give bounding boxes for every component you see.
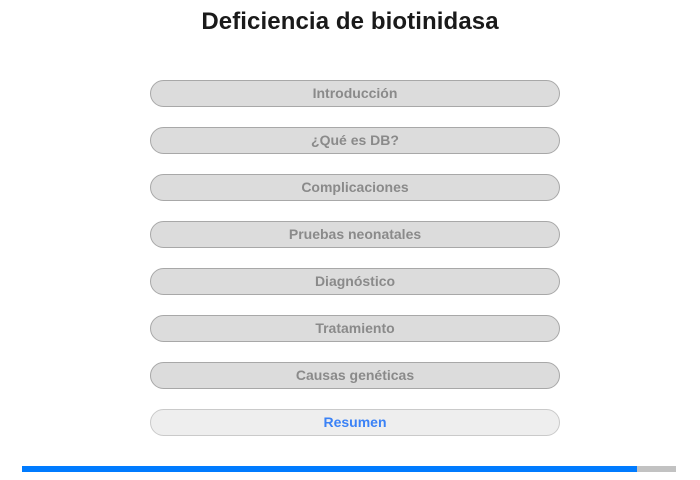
- page-title: Deficiencia de biotinidasa: [0, 9, 700, 35]
- menu-item-introduccion[interactable]: Introducción: [150, 80, 560, 107]
- main-menu: Introducción ¿Qué es DB? Complicaciones …: [150, 80, 560, 436]
- menu-item-resumen[interactable]: Resumen: [150, 409, 560, 436]
- progress-bar-fill: [22, 466, 637, 472]
- menu-item-pruebas-neonatales[interactable]: Pruebas neonatales: [150, 221, 560, 248]
- page-root: Deficiencia de biotinidasa Introducción …: [0, 0, 700, 480]
- progress-bar[interactable]: [22, 466, 676, 472]
- menu-item-complicaciones[interactable]: Complicaciones: [150, 174, 560, 201]
- menu-item-diagnostico[interactable]: Diagnóstico: [150, 268, 560, 295]
- menu-item-causas-geneticas[interactable]: Causas genéticas: [150, 362, 560, 389]
- menu-item-tratamiento[interactable]: Tratamiento: [150, 315, 560, 342]
- menu-item-que-es-db[interactable]: ¿Qué es DB?: [150, 127, 560, 154]
